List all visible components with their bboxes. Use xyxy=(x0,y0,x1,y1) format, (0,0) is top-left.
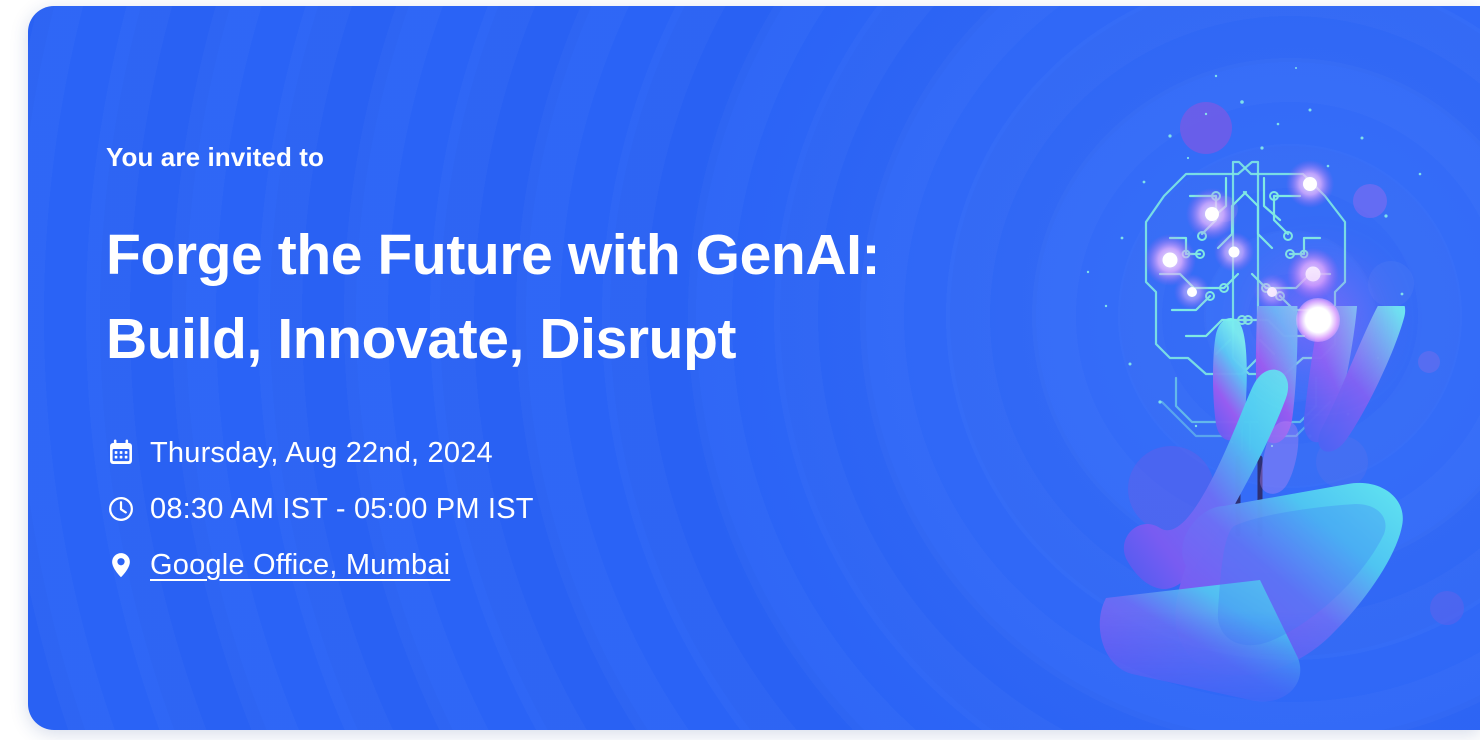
event-details-list: Thursday, Aug 22nd, 2024 08:30 AM IST - … xyxy=(106,436,534,582)
map-pin-icon xyxy=(106,550,136,580)
event-date-row: Thursday, Aug 22nd, 2024 xyxy=(106,436,534,470)
bokeh-circle xyxy=(1128,446,1214,532)
event-location-row[interactable]: Google Office, Mumbai xyxy=(106,548,534,582)
invitation-screen: You are invited to Forge the Future with… xyxy=(0,0,1480,740)
event-location-link[interactable]: Google Office, Mumbai xyxy=(150,549,450,582)
bokeh-circle xyxy=(1368,261,1414,307)
event-time-row: 08:30 AM IST - 05:00 PM IST xyxy=(106,492,534,526)
brain-stem-traces xyxy=(1238,458,1260,534)
bokeh-circle xyxy=(1212,196,1238,222)
central-glow-node xyxy=(1296,298,1340,342)
sparkle-dust xyxy=(1087,67,1422,447)
bokeh-circle xyxy=(1430,591,1464,625)
ai-brain-hand-illustration xyxy=(1010,6,1480,730)
bokeh-circle xyxy=(1316,436,1368,488)
clock-icon xyxy=(106,494,136,524)
invitation-eyebrow: You are invited to xyxy=(106,142,324,173)
bokeh-circle xyxy=(1418,351,1440,373)
brain-glow-nodes xyxy=(1144,160,1339,310)
event-title: Forge the Future with GenAI: Build, Inno… xyxy=(106,213,986,381)
open-hand-icon xyxy=(1100,249,1405,702)
invitation-content: You are invited to Forge the Future with… xyxy=(78,6,898,730)
bokeh-circle xyxy=(1353,184,1387,218)
event-date-text: Thursday, Aug 22nd, 2024 xyxy=(150,437,493,470)
event-time-text: 08:30 AM IST - 05:00 PM IST xyxy=(150,493,534,526)
circuit-brain-icon xyxy=(1146,162,1345,450)
bokeh-circle xyxy=(1180,102,1232,154)
calendar-icon xyxy=(106,438,136,468)
event-invitation-card: You are invited to Forge the Future with… xyxy=(28,6,1480,730)
